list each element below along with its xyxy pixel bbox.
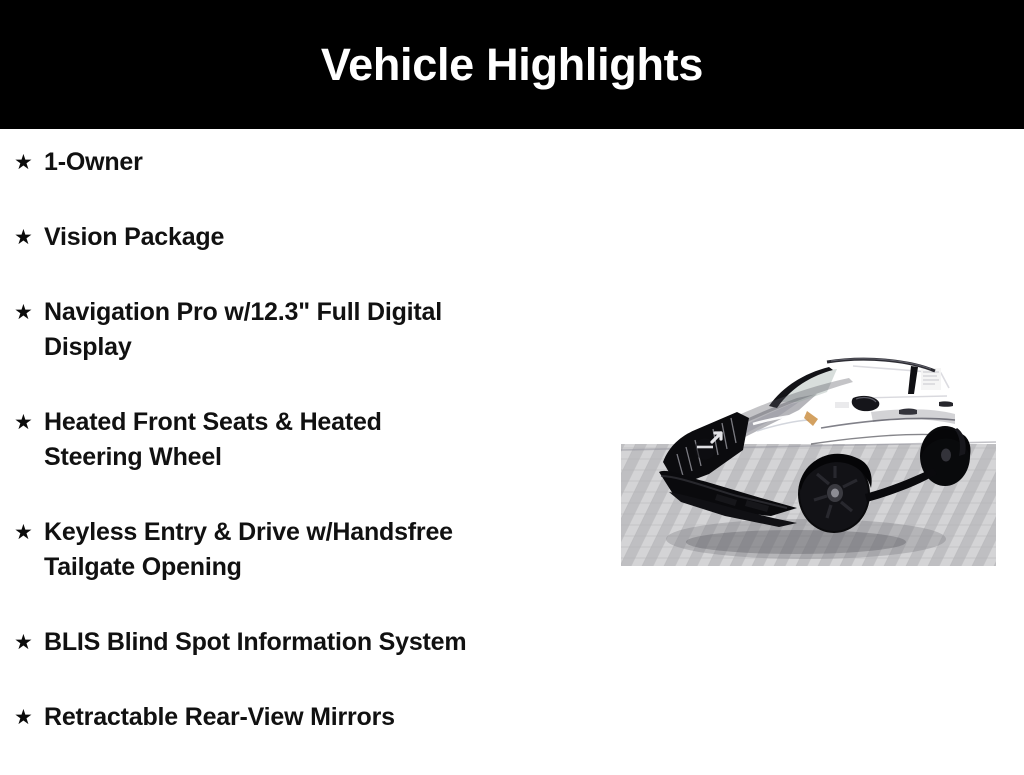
vehicle-photo: 0%#dedee6 0%#ffffff0.55 45%#ffffff0.1 10… [621,316,996,566]
star-bullet-icon: ★ [14,405,44,440]
star-bullet-icon: ★ [14,700,44,735]
highlight-item-label: 1-Owner [44,145,600,180]
star-bullet-icon: ★ [14,145,44,180]
highlight-item-label: Navigation Pro w/12.3" Full Digital Disp… [44,295,600,365]
highlight-item: ★Vision Package [0,220,600,255]
highlight-item: ★BLIS Blind Spot Information System [0,625,600,660]
highlight-item-label: BLIS Blind Spot Information System [44,625,600,660]
vehicle-highlights-list: ★1-Owner★Vision Package★Navigation Pro w… [0,129,600,775]
highlight-item-label: Vision Package [44,220,600,255]
highlight-item: ★Retractable Rear-View Mirrors [0,700,600,735]
highlight-item: ★Navigation Pro w/12.3" Full Digital Dis… [0,295,600,365]
page-title: Vehicle Highlights [321,42,703,87]
highlight-item-label: Heated Front Seats & Heated Steering Whe… [44,405,600,475]
star-bullet-icon: ★ [14,220,44,255]
star-bullet-icon: ★ [14,625,44,660]
highlight-item-label: Retractable Rear-View Mirrors [44,700,600,735]
header-banner: Vehicle Highlights [0,0,1024,129]
vehicle-photo-image: 0%#dedee6 0%#ffffff0.55 45%#ffffff0.1 10… [621,316,996,566]
highlight-item: ★Heated Front Seats & Heated Steering Wh… [0,405,600,475]
highlight-item-label: Keyless Entry & Drive w/Handsfree Tailga… [44,515,600,585]
highlight-item: ★Keyless Entry & Drive w/Handsfree Tailg… [0,515,600,585]
star-bullet-icon: ★ [14,515,44,550]
highlight-item: ★1-Owner [0,145,600,180]
star-bullet-icon: ★ [14,295,44,330]
